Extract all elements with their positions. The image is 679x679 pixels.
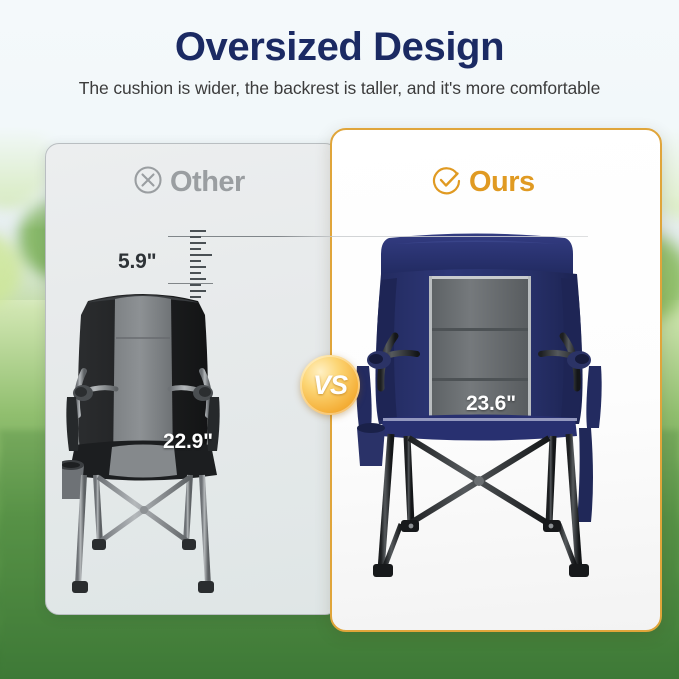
dimension-label-ours-backrest: 23.6" xyxy=(466,392,516,416)
brand-ours-label: Ours xyxy=(469,168,535,197)
dimension-label-height-difference: 5.9" xyxy=(118,250,156,274)
comparison-infographic: Oversized Design The cushion is wider, t… xyxy=(0,0,679,679)
page-title: Oversized Design xyxy=(0,0,679,68)
brand-other-label: Other xyxy=(170,168,245,197)
circle-x-icon xyxy=(133,165,163,200)
ruler-ticks xyxy=(190,228,212,298)
vs-badge: VS xyxy=(300,355,360,415)
guide-line-top xyxy=(168,236,588,237)
dimension-label-other-backrest: 22.9" xyxy=(163,430,213,454)
page-subtitle: The cushion is wider, the backrest is ta… xyxy=(0,68,679,99)
chair-ours-image xyxy=(355,232,605,609)
brand-other: Other xyxy=(133,165,245,200)
brand-ours: Ours xyxy=(432,165,535,200)
vs-label: VS xyxy=(313,370,347,401)
circle-check-icon xyxy=(432,165,462,200)
header: Oversized Design The cushion is wider, t… xyxy=(0,0,679,99)
